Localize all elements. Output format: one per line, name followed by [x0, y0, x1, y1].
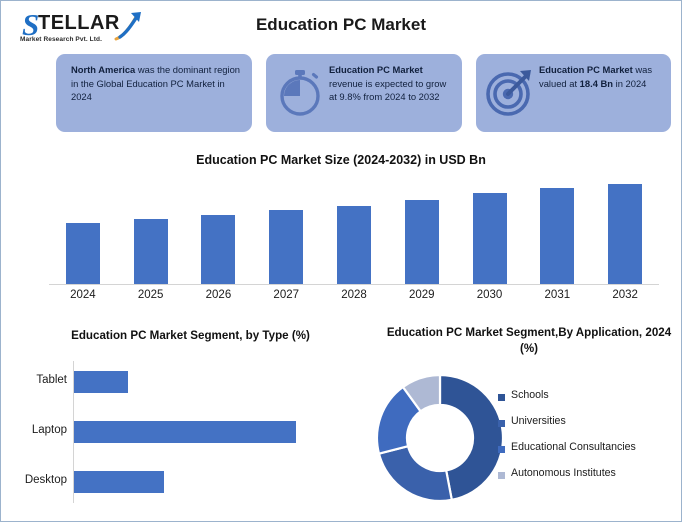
segment-type-chart-title: Education PC Market Segment, by Type (%)	[13, 329, 368, 342]
bar-2027	[269, 210, 303, 285]
legend-swatch-icon	[498, 446, 505, 453]
bar-2026	[201, 215, 235, 285]
highlight-card-value: Education PC Market was valued at 18.4 B…	[476, 54, 671, 132]
legend-item: Educational Consultancies	[498, 441, 678, 467]
bar-2029	[405, 200, 439, 285]
stopwatch-icon	[274, 65, 326, 119]
market-size-chart-title: Education PC Market Size (2024-2032) in …	[1, 153, 681, 167]
card-text-region: North America was the dominant region in…	[71, 63, 241, 104]
highlight-cards: North America was the dominant region in…	[56, 54, 674, 136]
hbar-label-laptop: Laptop	[9, 424, 67, 436]
header: S TELLAR Market Research Pvt. Ltd. Educa…	[1, 1, 681, 51]
legend-item: Schools	[498, 389, 678, 415]
legend-label: Schools	[511, 389, 549, 401]
highlight-card-region: North America was the dominant region in…	[56, 54, 252, 132]
card-text-cagr: Education PC Market revenue is expected …	[329, 63, 454, 104]
legend-item: Autonomous Institutes	[498, 467, 678, 493]
bar-label-2027: 2027	[252, 289, 320, 301]
bar-label-2031: 2031	[523, 289, 591, 301]
legend-label: Universities	[511, 415, 566, 427]
bar-label-2024: 2024	[49, 289, 117, 301]
infographic-page: S TELLAR Market Research Pvt. Ltd. Educa…	[0, 0, 682, 522]
bar-2024	[66, 223, 100, 285]
bar-2031	[540, 188, 574, 285]
logo-tagline: Market Research Pvt. Ltd.	[20, 36, 102, 43]
hbar-laptop	[74, 421, 296, 443]
bar-label-2032: 2032	[591, 289, 659, 301]
bar-plot-area	[49, 177, 659, 285]
highlight-card-cagr: Education PC Market revenue is expected …	[266, 54, 462, 132]
donut-slice-schools	[440, 375, 503, 500]
legend-swatch-icon	[498, 472, 505, 479]
hbar-tablet	[74, 371, 128, 393]
card-text-value: Education PC Market was valued at 18.4 B…	[539, 63, 663, 90]
bar-label-2029: 2029	[388, 289, 456, 301]
application-donut-chart	[375, 367, 505, 509]
segment-application-chart-title: Education PC Market Segment,By Applicati…	[383, 325, 675, 357]
target-icon	[484, 65, 536, 119]
legend-swatch-icon	[498, 420, 505, 427]
legend-label: Educational Consultancies	[511, 441, 636, 453]
bar-2030	[473, 193, 507, 285]
hbar-label-tablet: Tablet	[9, 374, 67, 386]
hbar-desktop	[74, 471, 164, 493]
bar-2028	[337, 206, 371, 285]
bar-2025	[134, 219, 168, 285]
legend-label: Autonomous Institutes	[511, 467, 616, 479]
market-size-bar-chart: 202420252026202720282029203020312032	[49, 177, 659, 307]
hbar-label-desktop: Desktop	[9, 474, 67, 486]
legend-swatch-icon	[498, 394, 505, 401]
bar-label-2025: 2025	[117, 289, 185, 301]
segment-type-bar-chart: TabletLaptopDesktop	[9, 359, 359, 507]
bar-label-2030: 2030	[456, 289, 524, 301]
bar-2032	[608, 184, 642, 285]
donut-slice-universities	[379, 446, 452, 501]
bar-chart-axis	[49, 284, 659, 285]
page-title: Education PC Market	[1, 15, 681, 35]
bar-label-2026: 2026	[184, 289, 252, 301]
legend-item: Universities	[498, 415, 678, 441]
bar-label-2028: 2028	[320, 289, 388, 301]
donut-legend: SchoolsUniversitiesEducational Consultan…	[498, 389, 678, 493]
